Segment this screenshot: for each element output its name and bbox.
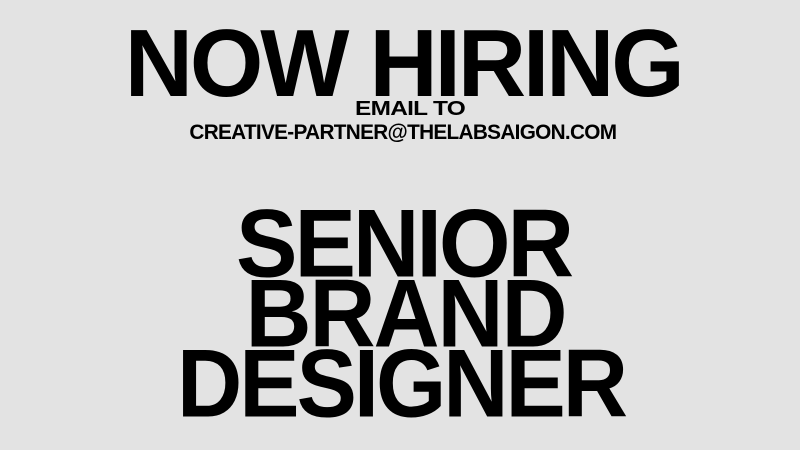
role-title-block: SENIOR BRAND DESIGNER — [0, 196, 800, 406]
hiring-poster: NOW HIRING EMAIL TO CREATIVE-PARTNER@THE… — [0, 0, 800, 450]
email-address[interactable]: CREATIVE-PARTNER@THELABSAIGON.COM — [3, 122, 800, 146]
page-title: NOW HIRING — [3, 18, 800, 104]
contact-block: EMAIL TO CREATIVE-PARTNER@THELABSAIGON.C… — [0, 99, 800, 146]
role-line-brand: BRAND — [5, 266, 800, 336]
email-address-text: CREATIVE-PARTNER@THELABSAIGON.COM — [189, 122, 616, 144]
role-line-designer: DESIGNER — [1, 336, 800, 406]
email-label-text: EMAIL TO — [355, 99, 465, 120]
role-line-senior: SENIOR — [4, 196, 800, 266]
email-label: EMAIL TO — [10, 99, 800, 120]
role-line-designer-text: DESIGNER — [177, 336, 625, 432]
